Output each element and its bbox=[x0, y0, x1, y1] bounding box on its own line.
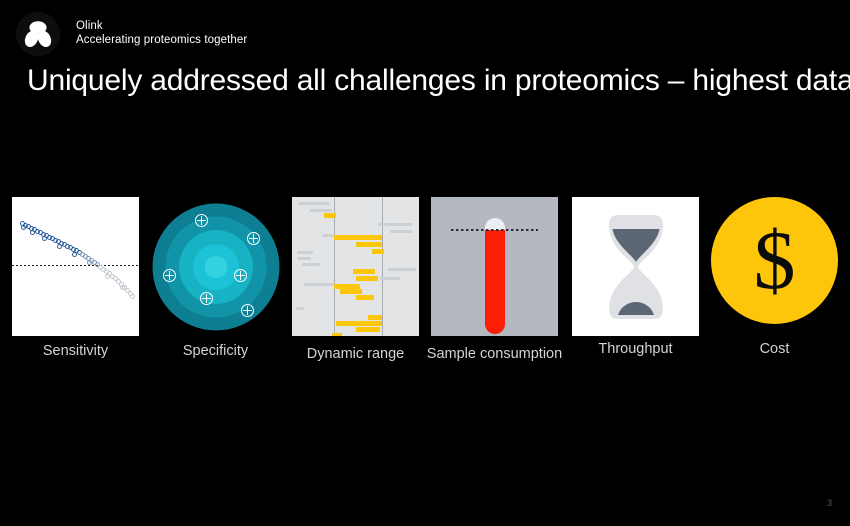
dollar-symbol: $ bbox=[711, 197, 838, 324]
card-dynamic-range: Dynamic range bbox=[292, 197, 419, 336]
hourglass-icon bbox=[603, 213, 669, 321]
target-marker-icon bbox=[195, 214, 208, 227]
scatter-plot-declining-icon bbox=[12, 197, 139, 336]
brand-header: Olink Accelerating proteomics together bbox=[16, 12, 247, 56]
range-bars-chart-icon bbox=[292, 197, 419, 336]
target-marker-icon bbox=[234, 269, 247, 282]
caption-cost: Cost bbox=[691, 341, 850, 357]
card-cost: $ Cost bbox=[711, 197, 838, 336]
brand-text: Olink Accelerating proteomics together bbox=[76, 20, 247, 47]
target-marker-icon bbox=[247, 232, 260, 245]
target-marker-icon bbox=[241, 304, 254, 317]
threshold-dotted-line bbox=[12, 265, 139, 266]
thermometer-tube-icon bbox=[431, 197, 558, 336]
card-specificity: Specificity bbox=[152, 197, 279, 336]
target-marker-icon bbox=[200, 292, 213, 305]
tube-fill bbox=[485, 230, 505, 334]
card-throughput: Throughput bbox=[572, 197, 699, 336]
fill-level-dashed-line bbox=[451, 229, 538, 231]
slide: Olink Accelerating proteomics together U… bbox=[0, 0, 850, 526]
page-title: Uniquely addressed all challenges in pro… bbox=[27, 64, 850, 98]
olink-trefoil-logo-icon bbox=[16, 12, 60, 56]
target-rings-icon bbox=[152, 197, 279, 336]
slide-number: 3 bbox=[827, 498, 832, 508]
card-sensitivity: Sensitivity bbox=[12, 197, 139, 336]
brand-name: Olink bbox=[76, 20, 247, 34]
target-marker-icon bbox=[163, 269, 176, 282]
brand-tagline: Accelerating proteomics together bbox=[76, 34, 247, 48]
card-sample-consumption: Sample consumption bbox=[431, 197, 558, 336]
challenge-cards: Sensitivity Specificity bbox=[0, 197, 850, 337]
